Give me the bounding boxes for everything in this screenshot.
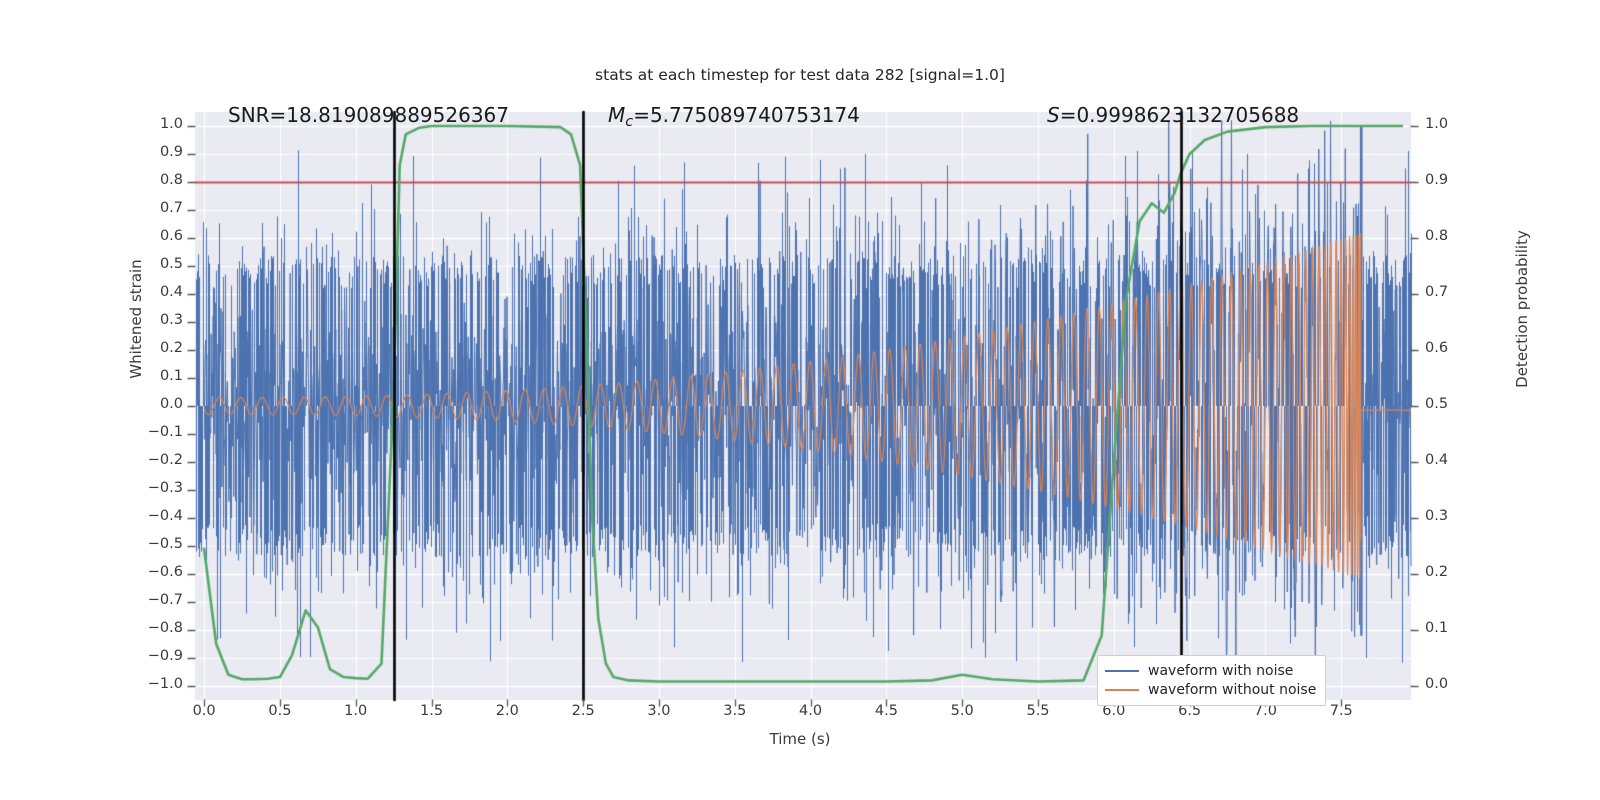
y-tick-label-left: 0.5 <box>121 256 183 272</box>
x-tick-label: 2.5 <box>553 703 613 719</box>
y-tick-label-right: 0.8 <box>1425 228 1485 244</box>
x-tick-label: 4.0 <box>781 703 841 719</box>
x-tick-label: 1.5 <box>402 703 462 719</box>
legend-color-swatch <box>1105 670 1139 672</box>
annotation-chirp-mass: Mc=5.775089740753174 <box>608 103 860 130</box>
y-tick-label-left: 0.3 <box>121 312 183 328</box>
annotation-chirp-mass-symbol: M <box>608 103 625 127</box>
y-tick-label-right: 0.9 <box>1425 172 1485 188</box>
x-tick-label: 5.0 <box>932 703 992 719</box>
chart-title: stats at each timestep for test data 282… <box>0 66 1600 84</box>
y-tick-label-right: 0.5 <box>1425 396 1485 412</box>
x-tick-label: 5.5 <box>1008 703 1068 719</box>
x-axis-label: Time (s) <box>0 730 1600 748</box>
y-tick-label-left: 0.8 <box>121 172 183 188</box>
y-tick-label-left: −0.7 <box>121 592 183 608</box>
y-tick-label-right: 0.4 <box>1425 452 1485 468</box>
y-tick-label-right: 0.7 <box>1425 284 1485 300</box>
y-tick-label-right: 0.2 <box>1425 564 1485 580</box>
y-tick-label-left: 0.7 <box>121 200 183 216</box>
annotation-snr: SNR=18.819089889526367 <box>228 103 509 127</box>
y-tick-label-left: −0.6 <box>121 564 183 580</box>
annotation-chirp-mass-subscript: c <box>625 114 633 130</box>
annotation-score-value: =0.9998623132705688 <box>1060 103 1299 127</box>
legend-label: waveform with noise <box>1148 663 1293 679</box>
y-tick-label-right: 0.0 <box>1425 676 1485 692</box>
y-tick-label-left: −0.5 <box>121 536 183 552</box>
y-axis-label-right: Detection probability <box>1482 300 1502 480</box>
y-tick-label-left: 0.0 <box>121 396 183 412</box>
annotation-score: S=0.9998623132705688 <box>1047 103 1299 127</box>
y-tick-label-left: 0.4 <box>121 284 183 300</box>
y-tick-label-left: −1.0 <box>121 676 183 692</box>
x-tick-label: 3.5 <box>705 703 765 719</box>
x-tick-label: 0.5 <box>250 703 310 719</box>
y-tick-label-left: 0.1 <box>121 368 183 384</box>
x-tick-label: 4.5 <box>856 703 916 719</box>
annotation-chirp-mass-value: =5.775089740753174 <box>633 103 860 127</box>
x-tick-label: 2.0 <box>477 703 537 719</box>
y-tick-label-left: 0.2 <box>121 340 183 356</box>
y-tick-label-left: −0.9 <box>121 648 183 664</box>
legend-item: waveform without noise <box>1105 680 1316 699</box>
y-axis-label-left: Whitened strain <box>104 310 124 470</box>
y-tick-label-left: −0.2 <box>121 452 183 468</box>
x-tick-label: 3.0 <box>629 703 689 719</box>
x-tick-label: 1.0 <box>326 703 386 719</box>
legend-label: waveform without noise <box>1148 682 1316 698</box>
y-tick-label-right: 0.3 <box>1425 508 1485 524</box>
y-tick-label-left: −0.4 <box>121 508 183 524</box>
y-tick-label-left: −0.8 <box>121 620 183 636</box>
y-tick-label-left: 1.0 <box>121 116 183 132</box>
y-tick-label-right: 1.0 <box>1425 116 1485 132</box>
y-tick-label-left: −0.3 <box>121 480 183 496</box>
y-tick-label-left: 0.9 <box>121 144 183 160</box>
plot-figure: stats at each timestep for test data 282… <box>0 0 1600 800</box>
y-tick-label-right: 0.1 <box>1425 620 1485 636</box>
y-tick-label-left: 0.6 <box>121 228 183 244</box>
annotation-score-symbol: S <box>1047 103 1060 127</box>
x-tick-label: 0.0 <box>174 703 234 719</box>
legend-item: waveform with noise <box>1105 661 1316 680</box>
chart-legend: waveform with noisewaveform without nois… <box>1097 655 1326 706</box>
y-tick-label-right: 0.6 <box>1425 340 1485 356</box>
y-tick-label-left: −0.1 <box>121 424 183 440</box>
legend-color-swatch <box>1105 689 1139 691</box>
